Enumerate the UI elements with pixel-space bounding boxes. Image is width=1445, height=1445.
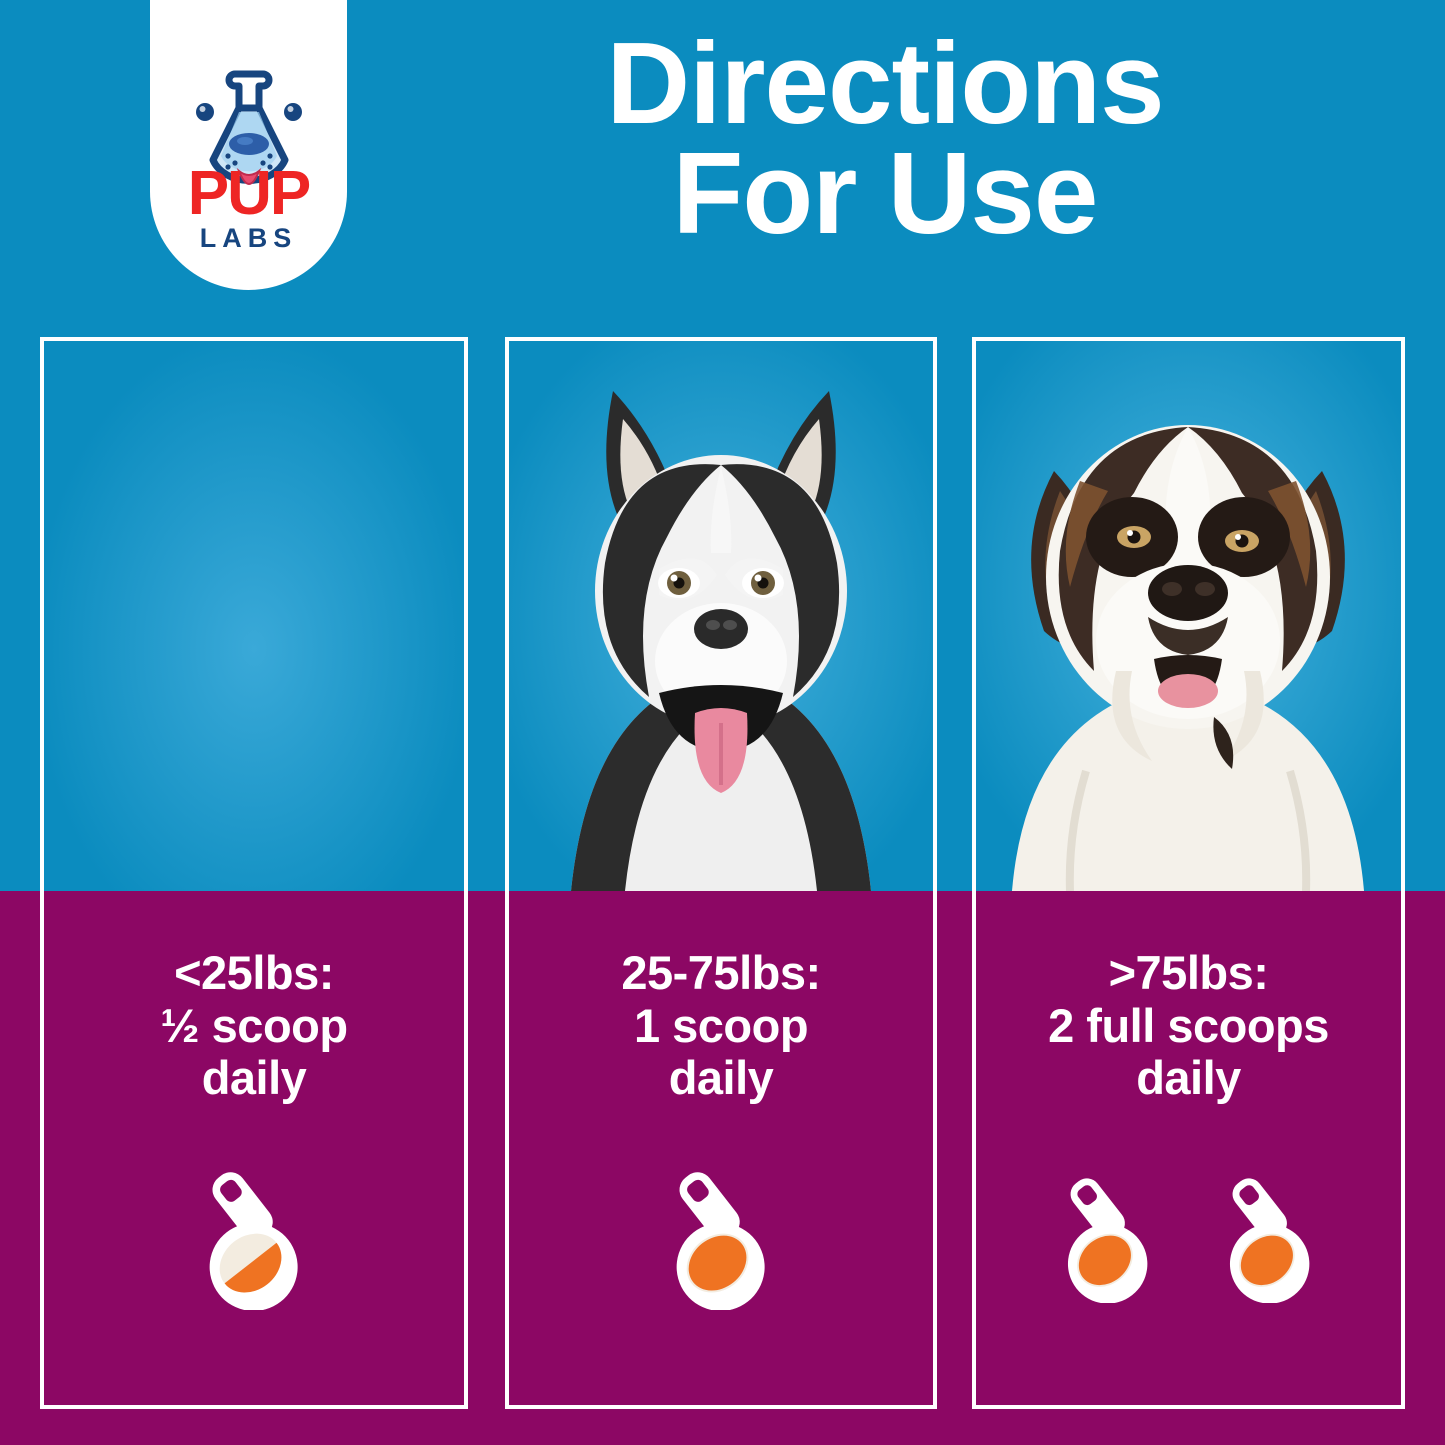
page-title: Directions For Use bbox=[380, 28, 1390, 248]
dosage-panel-medium-dog: 25-75lbs: 1 scoop daily bbox=[505, 337, 937, 1409]
dosage-panel-large-dog: >75lbs: 2 full scoops daily bbox=[972, 337, 1405, 1409]
siberian-husky-photo bbox=[509, 341, 933, 891]
dose-text-large-dog: >75lbs: 2 full scoops daily bbox=[1040, 947, 1337, 1105]
full-scoop-icon bbox=[1034, 1167, 1182, 1303]
dose-line2-small-dog: daily bbox=[160, 1052, 347, 1105]
dose-line2-large-dog: daily bbox=[1048, 1052, 1329, 1105]
weight-label-small-dog: <25lbs: bbox=[160, 947, 347, 1000]
full-scoop-icon bbox=[1196, 1167, 1344, 1303]
logo-wordmark-labs: LABS bbox=[200, 225, 298, 252]
full-scoop-icon bbox=[639, 1160, 803, 1310]
scoop-group-small-dog bbox=[44, 1105, 464, 1405]
weight-label-medium-dog: 25-75lbs: bbox=[621, 947, 820, 1000]
infographic-canvas: PUP LABS Directions For Use bbox=[0, 0, 1445, 1445]
dose-line1-large-dog: 2 full scoops bbox=[1048, 1000, 1329, 1053]
half-scoop-icon bbox=[172, 1160, 336, 1310]
dose-line1-small-dog: ½ scoop bbox=[160, 1000, 347, 1053]
dose-text-small-dog: <25lbs: ½ scoop daily bbox=[152, 947, 355, 1105]
scoop-group-large-dog bbox=[976, 1105, 1401, 1405]
dose-line2-medium-dog: daily bbox=[621, 1052, 820, 1105]
page-title-line-1: Directions bbox=[380, 28, 1390, 138]
scoop-group-medium-dog bbox=[509, 1105, 933, 1405]
dosage-body-medium-dog: 25-75lbs: 1 scoop daily bbox=[509, 891, 933, 1405]
brand-logo-badge: PUP LABS bbox=[150, 0, 347, 290]
dose-line1-medium-dog: 1 scoop bbox=[621, 1000, 820, 1053]
logo-wordmark-pup: PUP bbox=[188, 169, 309, 219]
dosage-body-small-dog: <25lbs: ½ scoop daily bbox=[44, 891, 464, 1405]
page-title-line-2: For Use bbox=[380, 138, 1390, 248]
weight-label-large-dog: >75lbs: bbox=[1048, 947, 1329, 1000]
saint-bernard-photo bbox=[976, 341, 1401, 891]
dosage-panel-small-dog: <25lbs: ½ scoop daily bbox=[40, 337, 468, 1409]
dosage-body-large-dog: >75lbs: 2 full scoops daily bbox=[976, 891, 1401, 1405]
french-bulldog-photo bbox=[44, 341, 464, 891]
dose-text-medium-dog: 25-75lbs: 1 scoop daily bbox=[613, 947, 828, 1105]
